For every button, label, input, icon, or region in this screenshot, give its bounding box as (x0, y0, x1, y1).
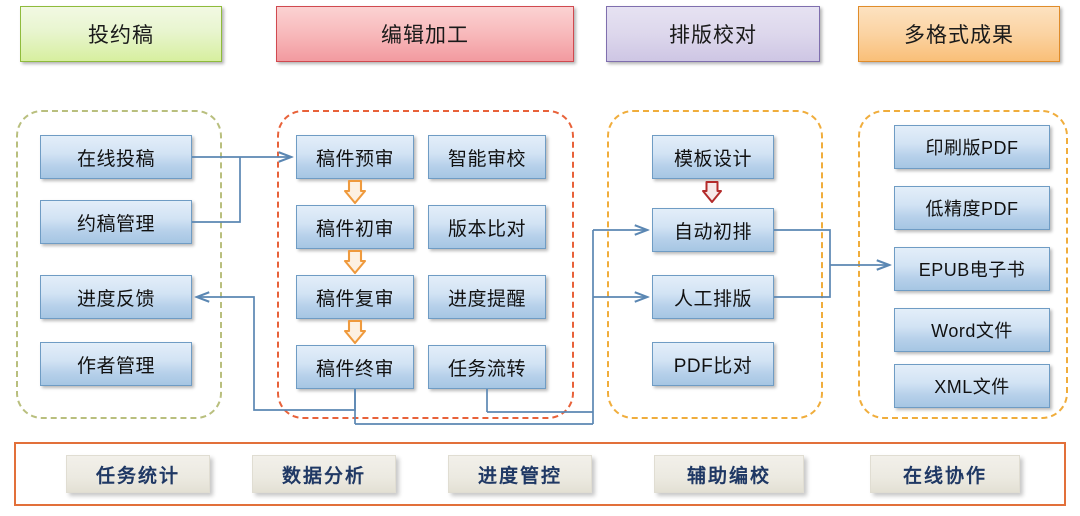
node-low-res-pdf[interactable]: 低精度PDF (894, 186, 1050, 230)
node-version-comparison[interactable]: 版本比对 (428, 205, 546, 249)
node-label: 人工排版 (674, 284, 752, 311)
node-label: 稿件初审 (316, 214, 394, 241)
node-label: 进度反馈 (77, 284, 155, 311)
node-label: 约稿管理 (77, 209, 155, 236)
workflow-diagram: 投约稿 编辑加工 排版校对 多格式成果 在线投稿 约稿管理 进度反馈 作者管理 … (0, 0, 1080, 516)
node-manuscript-final-review[interactable]: 稿件终审 (296, 345, 414, 389)
node-label: 在线投稿 (77, 144, 155, 171)
node-author-management[interactable]: 作者管理 (40, 342, 192, 386)
node-label: Word文件 (931, 317, 1013, 343)
node-label: 低精度PDF (926, 195, 1019, 221)
support-item-label: 任务统计 (96, 461, 180, 488)
support-item-label: 进度管控 (478, 461, 562, 488)
node-manuscript-first-review[interactable]: 稿件初审 (296, 205, 414, 249)
node-word-file[interactable]: Word文件 (894, 308, 1050, 352)
node-manuscript-pre-review[interactable]: 稿件预审 (296, 135, 414, 179)
node-progress-reminder[interactable]: 进度提醒 (428, 275, 546, 319)
node-manuscript-second-review[interactable]: 稿件复审 (296, 275, 414, 319)
phase-banner-submission[interactable]: 投约稿 (20, 6, 222, 62)
node-label: 作者管理 (77, 351, 155, 378)
support-item-label: 在线协作 (903, 461, 987, 488)
node-label: 稿件复审 (316, 284, 394, 311)
node-task-routing[interactable]: 任务流转 (428, 345, 546, 389)
node-template-design[interactable]: 模板设计 (652, 135, 774, 179)
phase-banner-label: 编辑加工 (381, 19, 469, 49)
node-online-submission[interactable]: 在线投稿 (40, 135, 192, 179)
node-manual-typesetting[interactable]: 人工排版 (652, 275, 774, 319)
node-label: 稿件预审 (316, 144, 394, 171)
support-item-label: 数据分析 (282, 461, 366, 488)
node-label: 智能审校 (448, 144, 526, 171)
node-label: 稿件终审 (316, 354, 394, 381)
node-auto-typesetting[interactable]: 自动初排 (652, 208, 774, 252)
node-label: PDF比对 (674, 351, 753, 378)
phase-banner-label: 排版校对 (669, 19, 757, 49)
node-label: 自动初排 (674, 217, 752, 244)
phase-banner-editing[interactable]: 编辑加工 (276, 6, 574, 62)
support-item-assisted-editing[interactable]: 辅助编校 (654, 455, 804, 493)
node-print-pdf[interactable]: 印刷版PDF (894, 125, 1050, 169)
phase-banner-label: 投约稿 (88, 19, 154, 49)
node-commission-management[interactable]: 约稿管理 (40, 200, 192, 244)
node-label: 进度提醒 (448, 284, 526, 311)
node-label: 任务流转 (448, 354, 526, 381)
support-item-data-analysis[interactable]: 数据分析 (252, 455, 396, 493)
node-progress-feedback[interactable]: 进度反馈 (40, 275, 192, 319)
node-label: EPUB电子书 (919, 256, 1026, 282)
support-item-progress-control[interactable]: 进度管控 (448, 455, 592, 493)
support-item-task-statistics[interactable]: 任务统计 (66, 455, 210, 493)
node-smart-proofreading[interactable]: 智能审校 (428, 135, 546, 179)
support-item-label: 辅助编校 (687, 461, 771, 488)
node-label: XML文件 (934, 373, 1010, 399)
phase-banner-typesetting[interactable]: 排版校对 (606, 6, 820, 62)
phase-banner-label: 多格式成果 (904, 19, 1014, 49)
node-label: 版本比对 (448, 214, 526, 241)
support-item-online-collaboration[interactable]: 在线协作 (870, 455, 1020, 493)
node-epub-ebook[interactable]: EPUB电子书 (894, 247, 1050, 291)
node-label: 印刷版PDF (926, 134, 1019, 160)
node-label: 模板设计 (674, 144, 752, 171)
node-xml-file[interactable]: XML文件 (894, 364, 1050, 408)
node-pdf-comparison[interactable]: PDF比对 (652, 342, 774, 386)
phase-banner-output[interactable]: 多格式成果 (858, 6, 1060, 62)
